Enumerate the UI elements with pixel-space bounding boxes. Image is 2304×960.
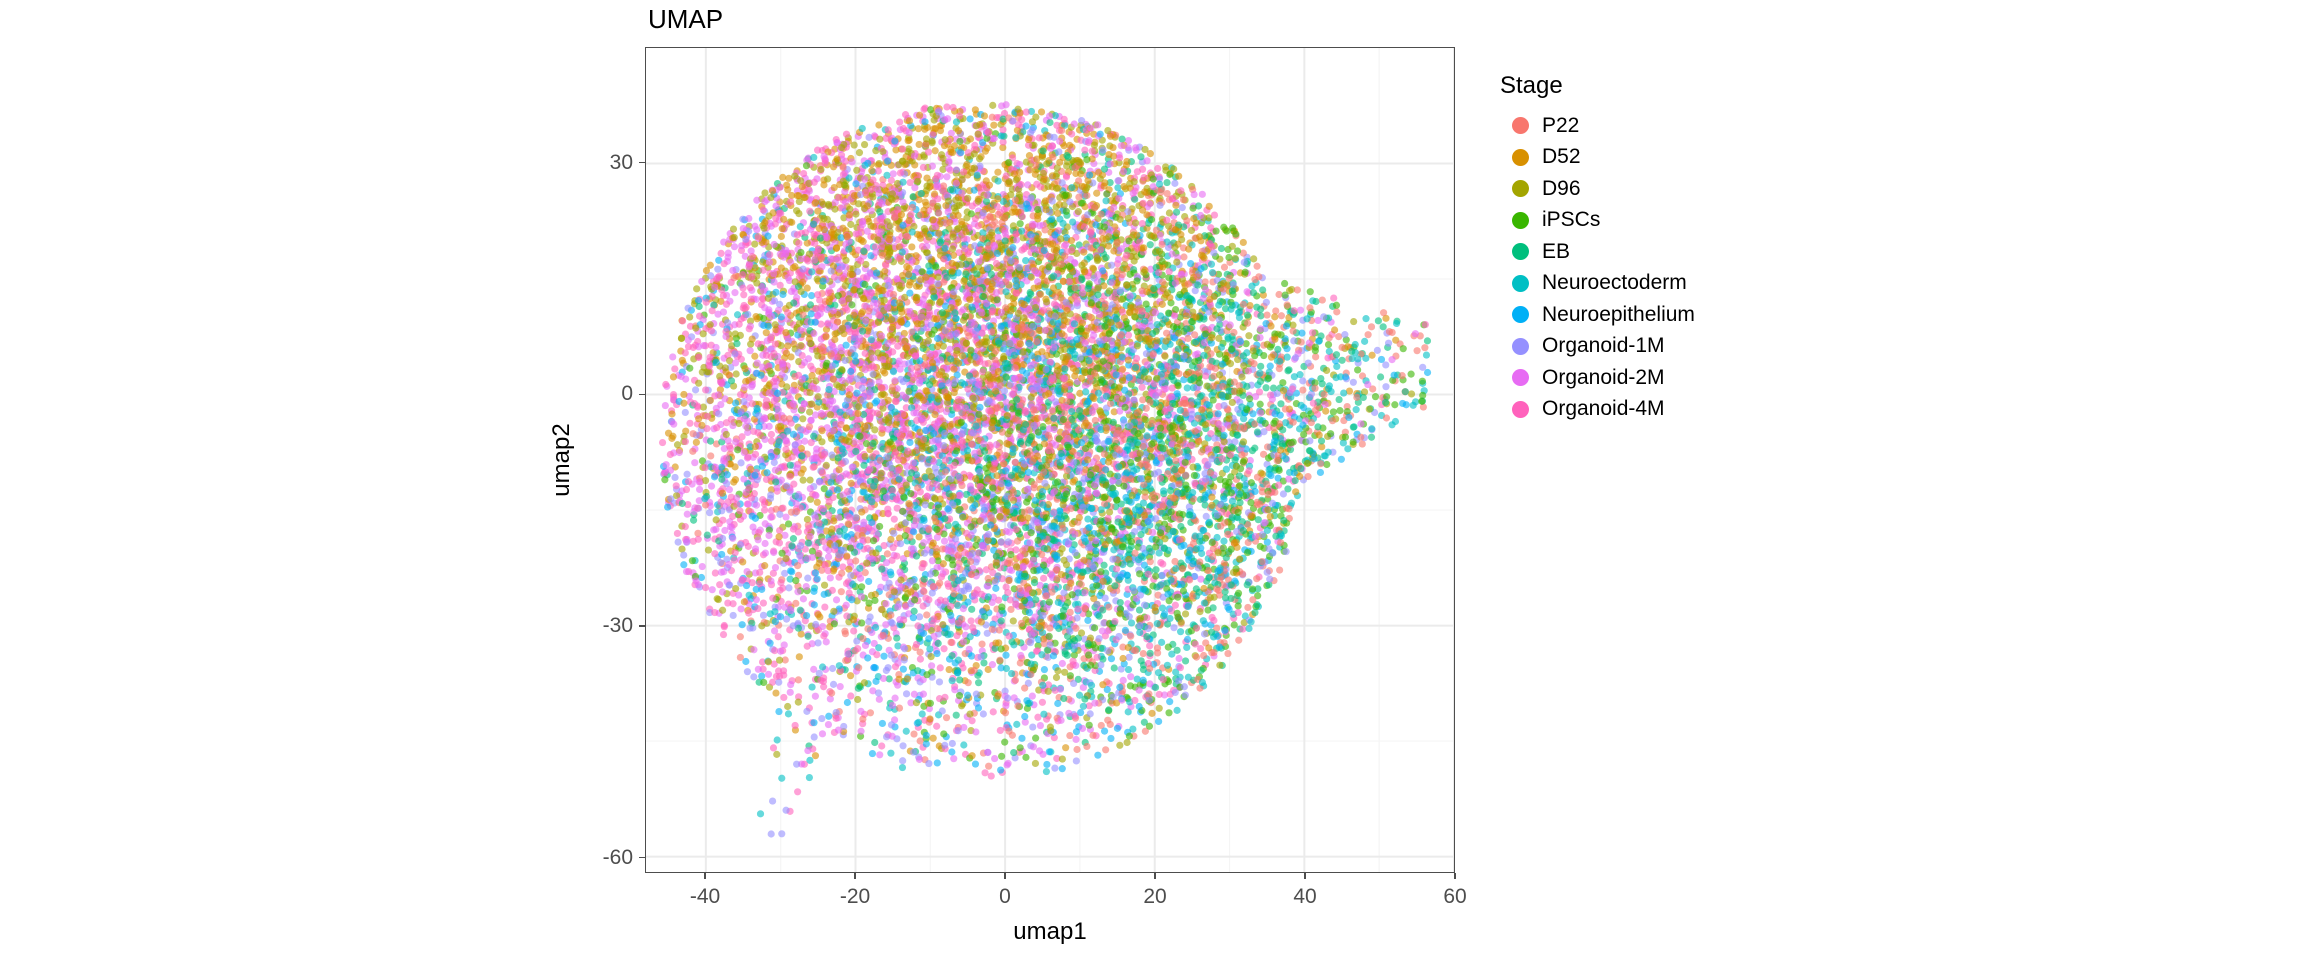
legend-item-neuroectoderm[interactable]: Neuroectoderm <box>1500 268 1840 300</box>
legend-color-swatch-icon <box>1512 306 1529 323</box>
legend-key <box>1500 369 1540 386</box>
y-axis-title: umap2 <box>548 423 576 496</box>
x-tick-mark <box>1154 873 1155 879</box>
legend-item-d52[interactable]: D52 <box>1500 142 1840 174</box>
x-tick-label-20: 20 <box>1143 885 1166 909</box>
legend-key <box>1500 180 1540 197</box>
legend-item-label: Organoid-2M <box>1542 366 1665 390</box>
y-tick-mark <box>639 857 645 858</box>
x-tick-mark <box>1454 873 1455 879</box>
page-title: UMAP <box>648 2 723 36</box>
legend-item-label: Neuroepithelium <box>1542 303 1695 327</box>
y-tick-mark <box>639 162 645 163</box>
y-tick-label--60: -60 <box>571 846 633 870</box>
legend-color-swatch-icon <box>1512 338 1529 355</box>
legend-color-swatch-icon <box>1512 212 1529 229</box>
legend-key <box>1500 338 1540 355</box>
legend-item-label: iPSCs <box>1542 208 1600 232</box>
legend-item-eb[interactable]: EB <box>1500 236 1840 268</box>
legend-key <box>1500 401 1540 418</box>
legend-item-label: Organoid-1M <box>1542 334 1665 358</box>
plot-panel <box>645 47 1455 873</box>
legend-color-swatch-icon <box>1512 117 1529 134</box>
legend-color-swatch-icon <box>1512 275 1529 292</box>
x-axis-title: umap1 <box>645 918 1455 946</box>
legend-item-label: D52 <box>1542 145 1581 169</box>
legend-item-label: Organoid-4M <box>1542 397 1665 421</box>
x-tick-label--40: -40 <box>690 885 720 909</box>
legend-item-label: EB <box>1542 240 1570 264</box>
x-tick-label--20: -20 <box>840 885 870 909</box>
y-tick-mark <box>639 625 645 626</box>
legend-color-swatch-icon <box>1512 243 1529 260</box>
legend-item-label: P22 <box>1542 114 1579 138</box>
legend-color-swatch-icon <box>1512 369 1529 386</box>
legend-item-p22[interactable]: P22 <box>1500 110 1840 142</box>
legend-color-swatch-icon <box>1512 401 1529 418</box>
legend-key <box>1500 243 1540 260</box>
legend-key <box>1500 149 1540 166</box>
legend-item-organoid-1m[interactable]: Organoid-1M <box>1500 331 1840 363</box>
legend-key <box>1500 306 1540 323</box>
legend-item-organoid-2m[interactable]: Organoid-2M <box>1500 362 1840 394</box>
y-tick-mark <box>639 394 645 395</box>
umap-figure: UMAP -60-30030-40-200204060 umap2 umap1 … <box>0 0 2304 960</box>
x-tick-mark <box>854 873 855 879</box>
x-tick-mark <box>1004 873 1005 879</box>
x-tick-label-0: 0 <box>999 885 1011 909</box>
legend-color-swatch-icon <box>1512 180 1529 197</box>
legend-item-ipscs[interactable]: iPSCs <box>1500 205 1840 237</box>
legend-item-d96[interactable]: D96 <box>1500 173 1840 205</box>
x-tick-label-40: 40 <box>1293 885 1316 909</box>
x-tick-mark <box>1304 873 1305 879</box>
legend-item-neuroepithelium[interactable]: Neuroepithelium <box>1500 299 1840 331</box>
y-tick-label-30: 30 <box>571 151 633 175</box>
legend-item-label: Neuroectoderm <box>1542 271 1687 295</box>
scatter-points-layer <box>646 48 1454 872</box>
legend-item-organoid-4m[interactable]: Organoid-4M <box>1500 394 1840 426</box>
y-tick-label-0: 0 <box>571 382 633 406</box>
legend-key <box>1500 212 1540 229</box>
legend-title: Stage <box>1500 72 1840 100</box>
legend-key <box>1500 275 1540 292</box>
legend-key <box>1500 117 1540 134</box>
x-tick-label-60: 60 <box>1443 885 1466 909</box>
legend: Stage P22D52D96iPSCsEBNeuroectodermNeuro… <box>1500 72 1840 425</box>
legend-item-label: D96 <box>1542 177 1581 201</box>
legend-color-swatch-icon <box>1512 149 1529 166</box>
x-tick-mark <box>704 873 705 879</box>
legend-items: P22D52D96iPSCsEBNeuroectodermNeuroepithe… <box>1500 110 1840 425</box>
y-tick-label--30: -30 <box>571 614 633 638</box>
